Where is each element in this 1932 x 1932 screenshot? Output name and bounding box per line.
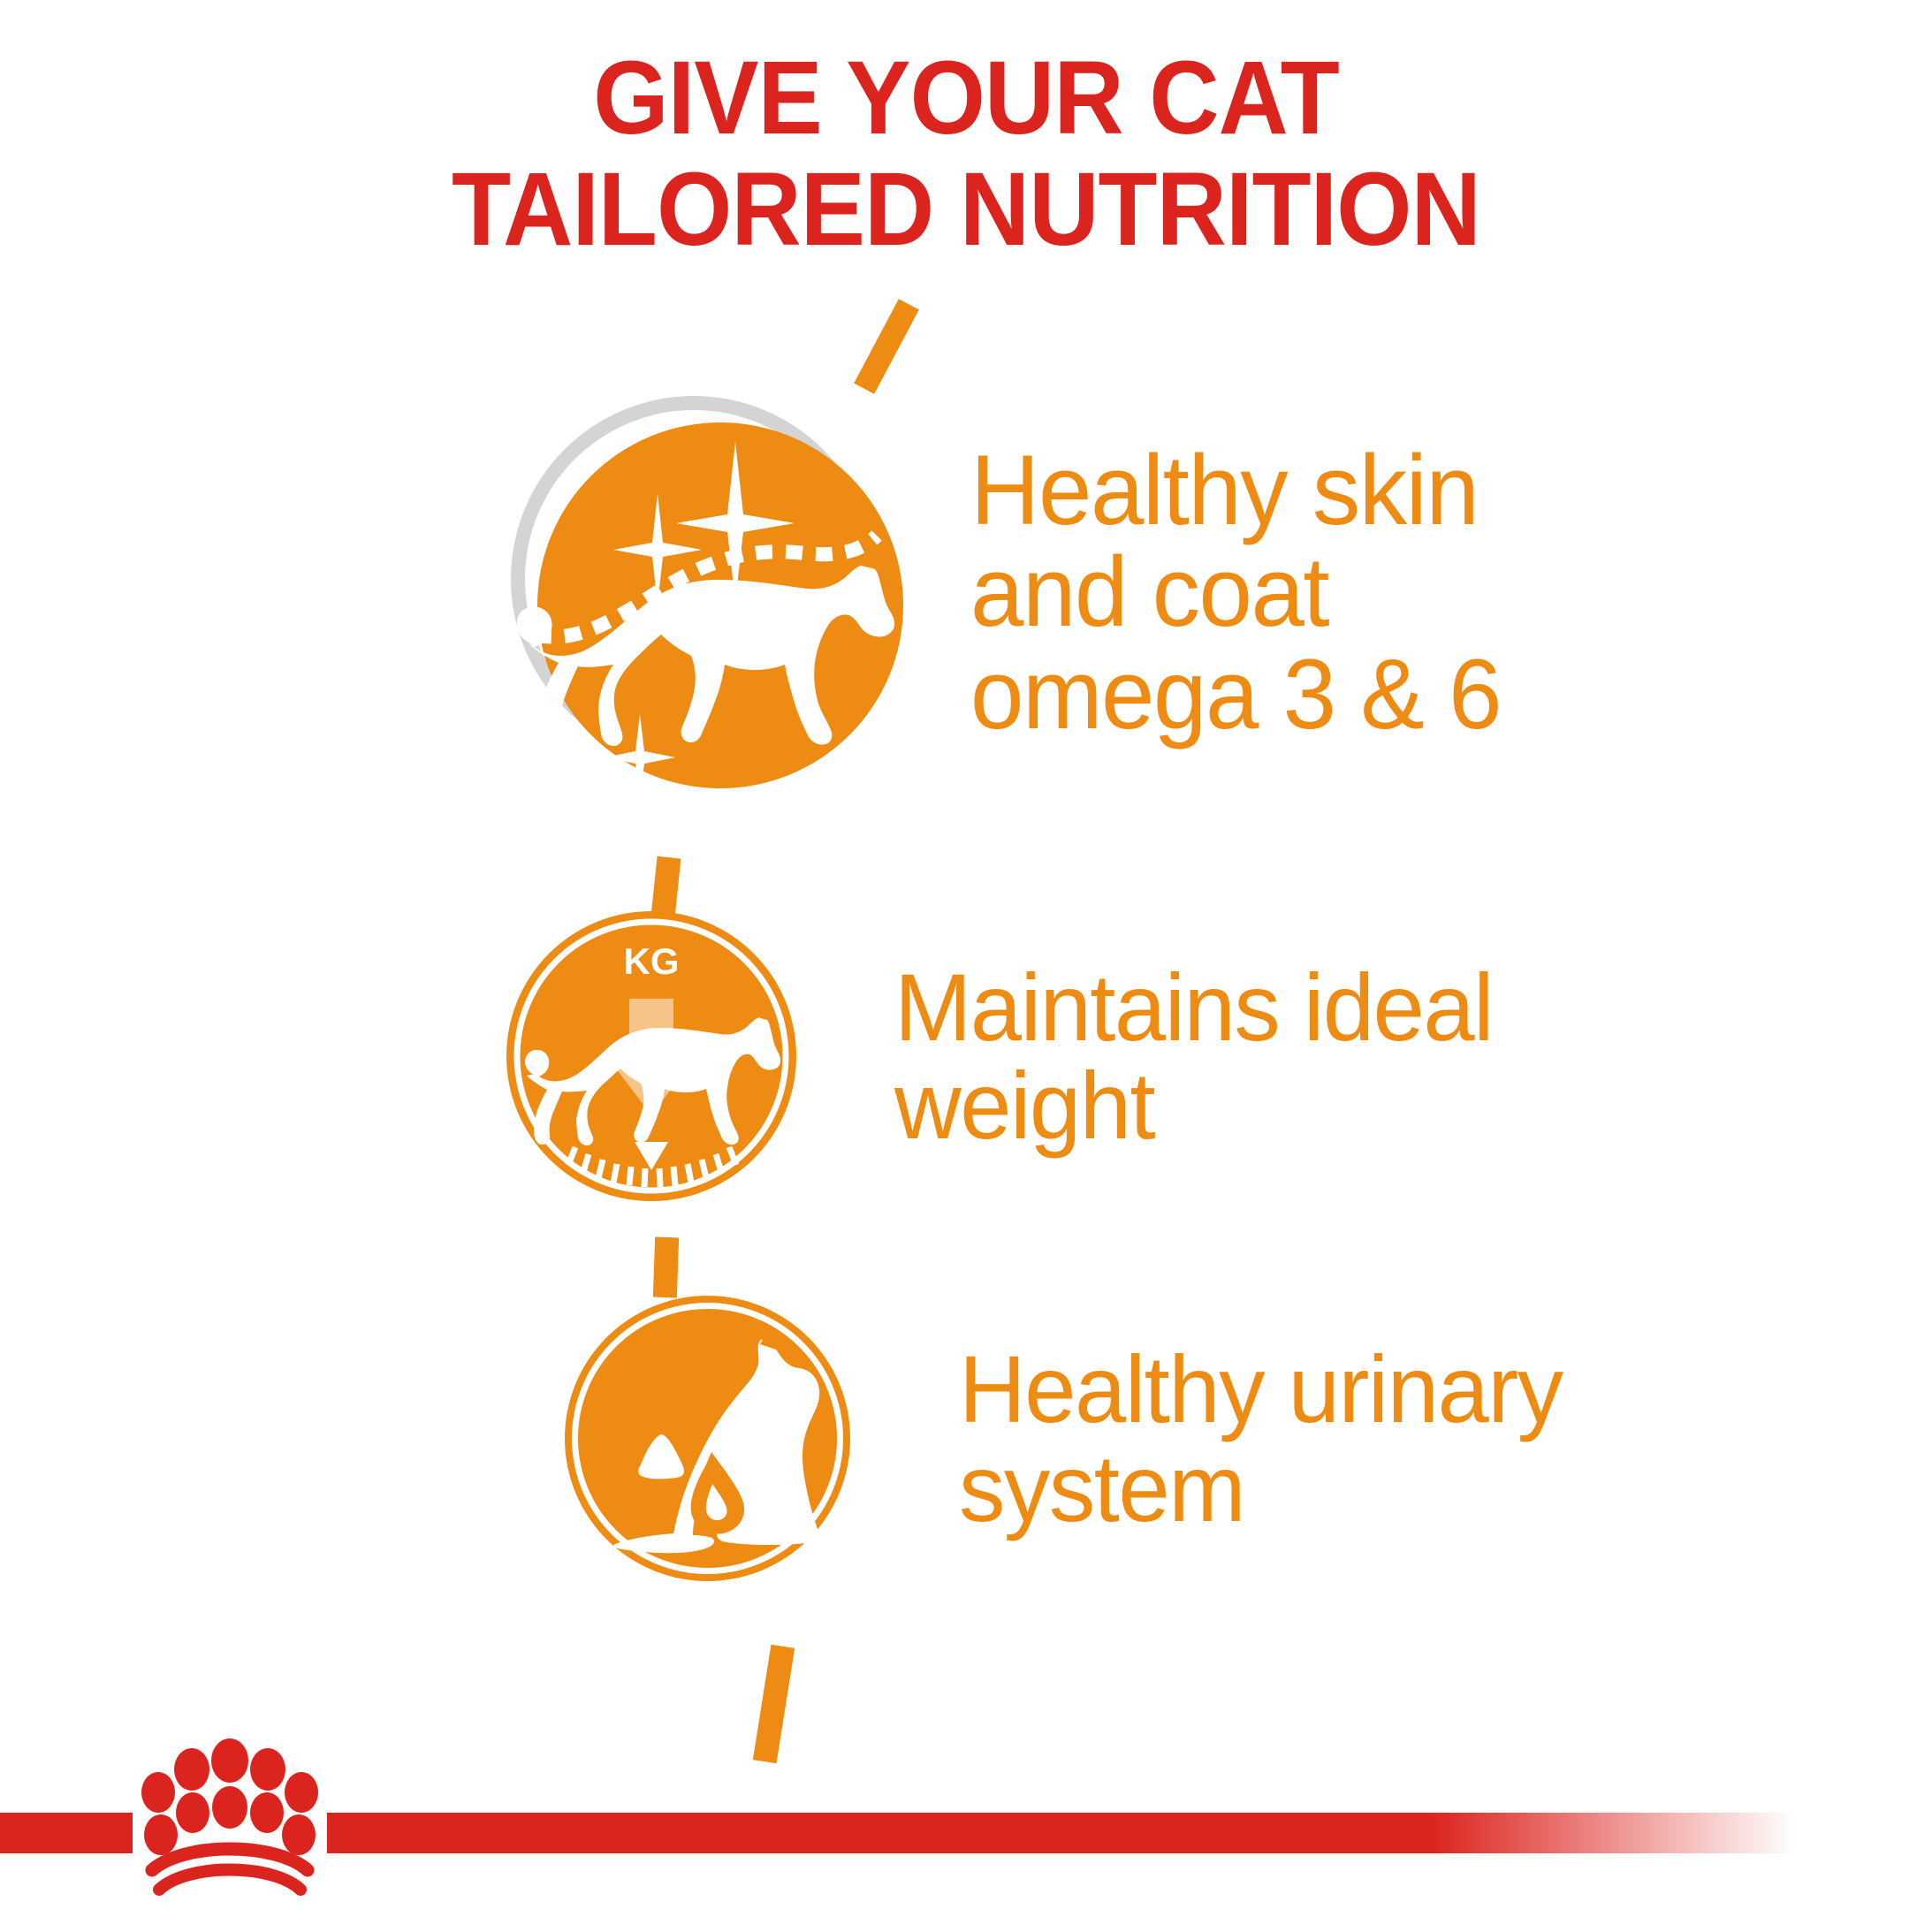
page-title: GIVE YOUR CAT TAILORED NUTRITION	[68, 42, 1865, 266]
headline-line-1: GIVE YOUR CAT	[68, 42, 1865, 154]
infographic-page: GIVE YOUR CAT TAILORED NUTRITION	[0, 0, 1932, 1932]
cat-sparkle-coat-icon	[495, 380, 919, 804]
connector-dash-1-2	[651, 856, 681, 918]
headline-line-2: TAILORED NUTRITION	[68, 154, 1865, 265]
benefit-row-healthy-skin-and-coat: Healthy skin and coat omega 3 & 6	[495, 380, 1517, 804]
benefit-row-maintains-ideal-weight: KG	[506, 910, 1511, 1202]
cat-weight-scale-icon: KG	[506, 910, 797, 1202]
connector-dash-2-3	[653, 1237, 679, 1298]
royal-canin-crown-icon	[133, 1738, 327, 1901]
kg-label: KG	[624, 940, 680, 982]
benefit-label-healthy-skin-and-coat: Healthy skin and coat omega 3 & 6	[970, 439, 1501, 745]
benefit-row-healthy-urinary-system: Healthy urinary system	[564, 1295, 1581, 1582]
benefit-label-maintains-ideal-weight: Maintains ideal weight	[894, 958, 1493, 1154]
benefit-label-healthy-urinary-system: Healthy urinary system	[959, 1340, 1563, 1536]
icon-slot-3	[564, 1295, 851, 1582]
connector-dash-bottom	[753, 1645, 795, 1764]
cat-water-drop-icon	[564, 1295, 851, 1582]
icon-slot-1	[495, 380, 919, 804]
icon-slot-2: KG	[506, 910, 797, 1202]
